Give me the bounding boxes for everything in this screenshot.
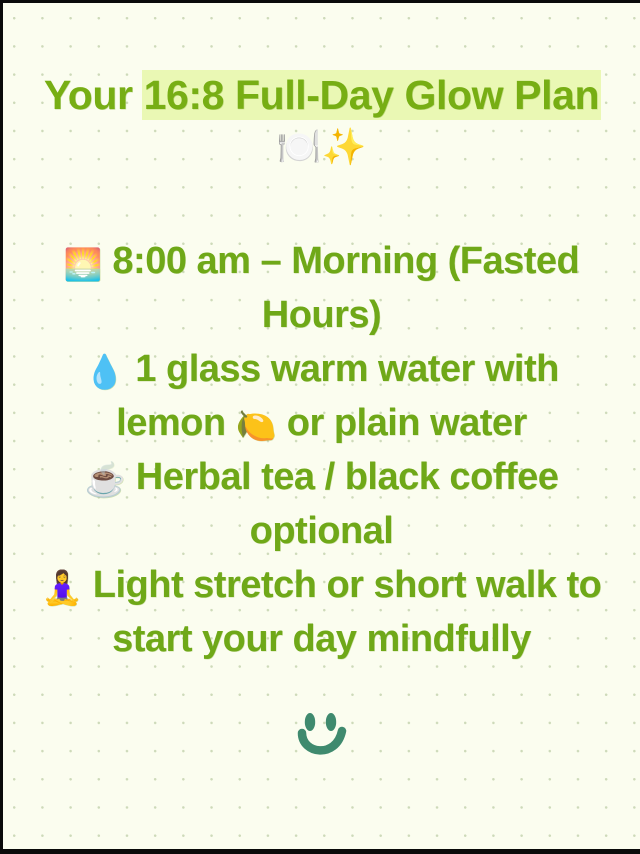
water-drop-icon: 💧 <box>84 353 125 390</box>
slide-canvas: Your 16:8 Full-Day Glow Plan 🍽️✨ 🌅 8:00 … <box>3 3 640 849</box>
sunrise-icon: 🌅 <box>64 247 103 282</box>
plan-item-tea-text: Herbal tea / black coffee optional <box>136 456 559 552</box>
plan-body: 🌅 8:00 am – Morning (Fasted Hours) 💧 1 g… <box>31 235 612 667</box>
plan-item-tea: ☕ Herbal tea / black coffee optional <box>31 451 612 559</box>
lemon-icon: 🍋 <box>236 407 277 444</box>
page-title-highlighted: 16:8 Full-Day Glow Plan <box>144 72 600 118</box>
plan-heading-morning: 🌅 8:00 am – Morning (Fasted Hours) <box>31 235 612 343</box>
title-emoji-row: 🍽️✨ <box>3 127 640 167</box>
coffee-cup-icon: ☕ <box>85 461 126 498</box>
page-title: Your 16:8 Full-Day Glow Plan <box>3 75 640 116</box>
page-title-prefix: Your <box>44 72 144 118</box>
frame-bottom-edge <box>0 849 640 854</box>
plan-heading-morning-text: 8:00 am – Morning (Fasted Hours) <box>112 240 579 336</box>
plan-item-stretch-text: Light stretch or short walk to start you… <box>93 564 602 660</box>
frame-top-edge <box>0 0 640 3</box>
plan-item-stretch: 🧘‍♀️ Light stretch or short walk to star… <box>31 559 612 667</box>
plan-item-water: 💧 1 glass warm water with lemon 🍋 or pla… <box>31 343 612 451</box>
yoga-pose-icon: 🧘‍♀️ <box>42 569 83 606</box>
frame-left-edge <box>0 0 3 854</box>
plan-item-water-text-after: or plain water <box>277 402 527 444</box>
smiley-face-icon <box>291 709 353 765</box>
footer-smiley <box>3 709 640 770</box>
